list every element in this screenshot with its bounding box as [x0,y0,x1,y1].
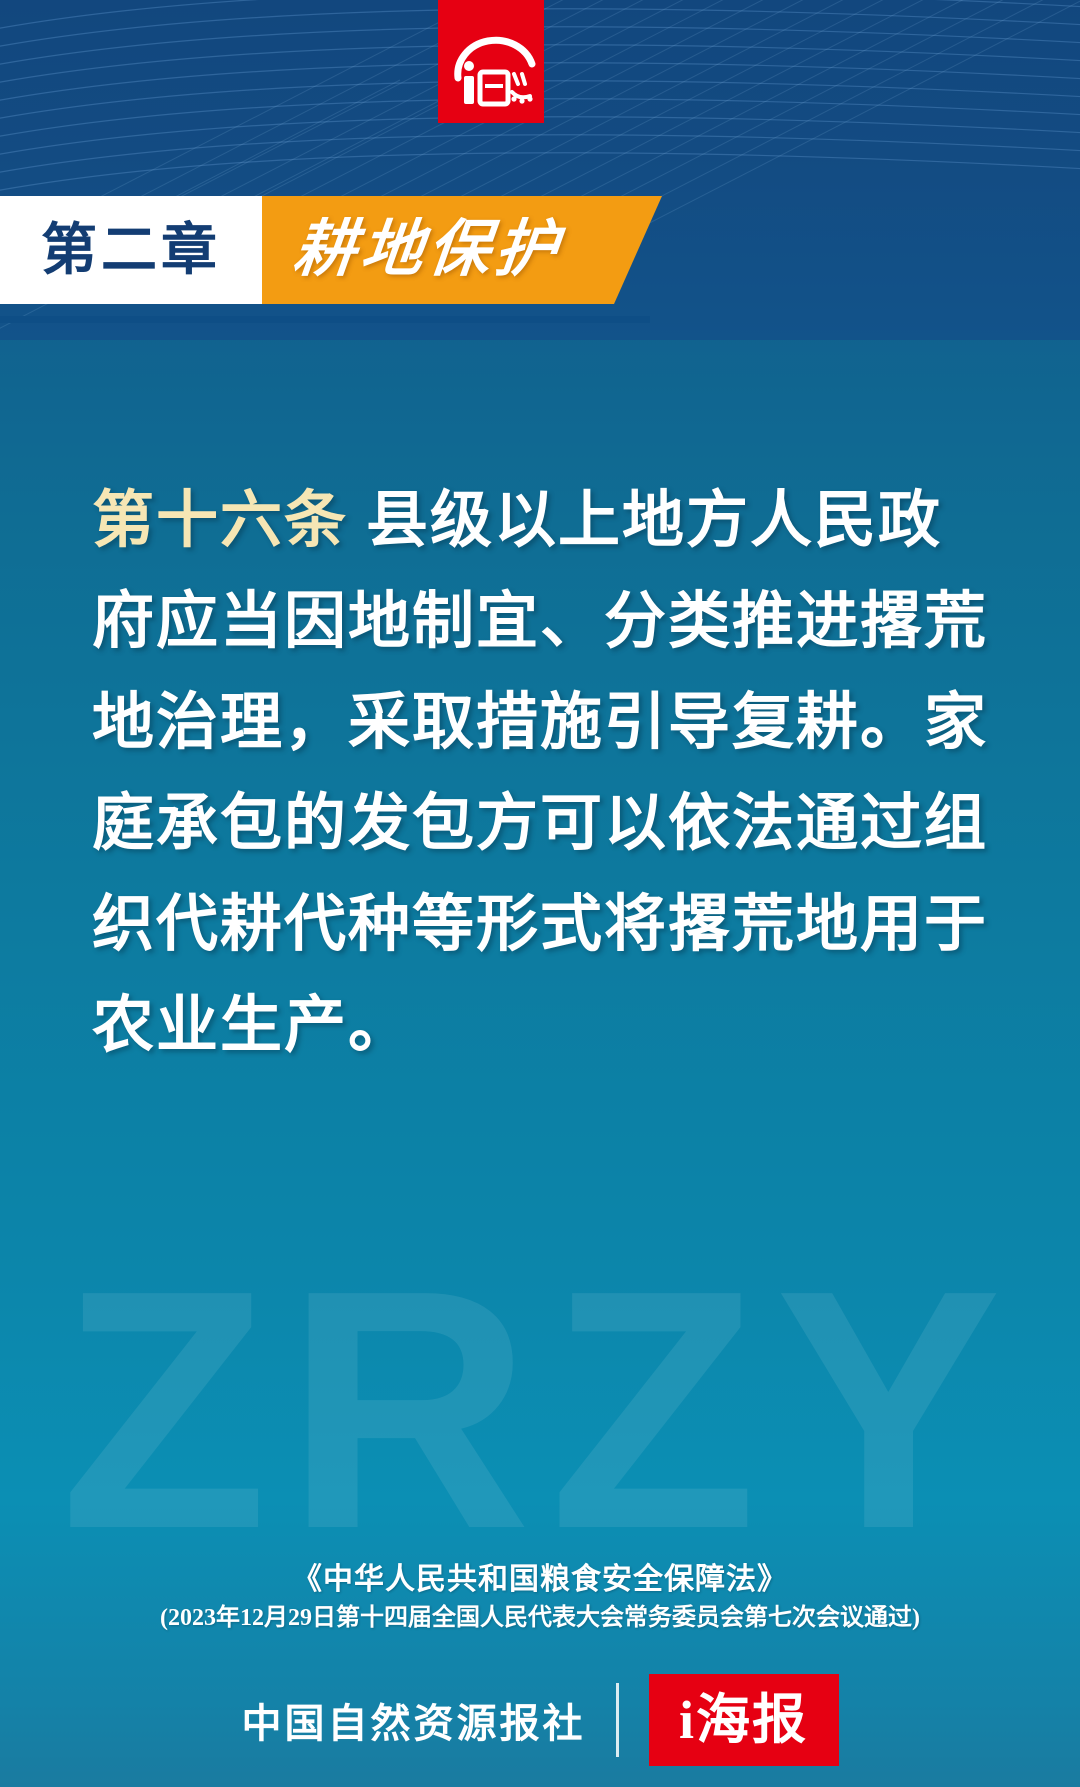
article-line-1: 第十六条县级以上地方人民政 [92,470,992,571]
chapter-label: 第二章 [41,222,221,278]
i-ziran-logo [438,0,544,123]
article-line-3: 地治理，采取措施引导复耕。家 [92,672,992,773]
chapter-title: 耕地保护 [291,219,566,281]
citation-title: 《中华人民共和国粮食安全保障法》 [0,1560,1080,1600]
article-line-4: 庭承包的发包方可以依法通过组 [92,773,992,874]
banner-underline [0,316,650,323]
citation-meta: (2023年12月29日第十四届全国人民代表大会常务委员会第七次会议通过) [0,1600,1080,1636]
chapter-label-box: 第二章 [0,196,262,304]
i-ziran-logo-mark [438,0,544,123]
brand-row: 中国自然资源报社 i海报 [0,1670,1080,1770]
ihaibao-logo: i海报 [649,1674,839,1766]
publisher-name: 中国自然资源报社 [242,1691,616,1749]
chapter-banner: 第二章 耕地保护 [0,196,662,304]
zrzy-watermark: ZRZY [0,1245,1080,1575]
poster-canvas: 第二章 耕地保护 第十六条县级以上地方人民政 府应当因地制宜、分类推进撂荒 地治… [0,0,1080,1787]
article-line-5: 织代耕代种等形式将撂荒地用于 [92,874,992,975]
chapter-title-box: 耕地保护 [262,196,662,304]
article-number: 第十六条 [92,486,348,555]
footer: 《中华人民共和国粮食安全保障法》 (2023年12月29日第十四届全国人民代表大… [0,1560,1080,1787]
zrzy-watermark-text: ZRZY [0,1245,1080,1575]
ihaibao-logo-text: i海报 [679,1693,808,1747]
article-line-1-text: 县级以上地方人民政 [366,486,942,555]
article-line-2: 府应当因地制宜、分类推进撂荒 [92,571,992,672]
article-line-6: 农业生产。 [92,975,992,1076]
article-body: 第十六条县级以上地方人民政 府应当因地制宜、分类推进撂荒 地治理，采取措施引导复… [92,470,992,1076]
brand-divider [616,1683,619,1757]
